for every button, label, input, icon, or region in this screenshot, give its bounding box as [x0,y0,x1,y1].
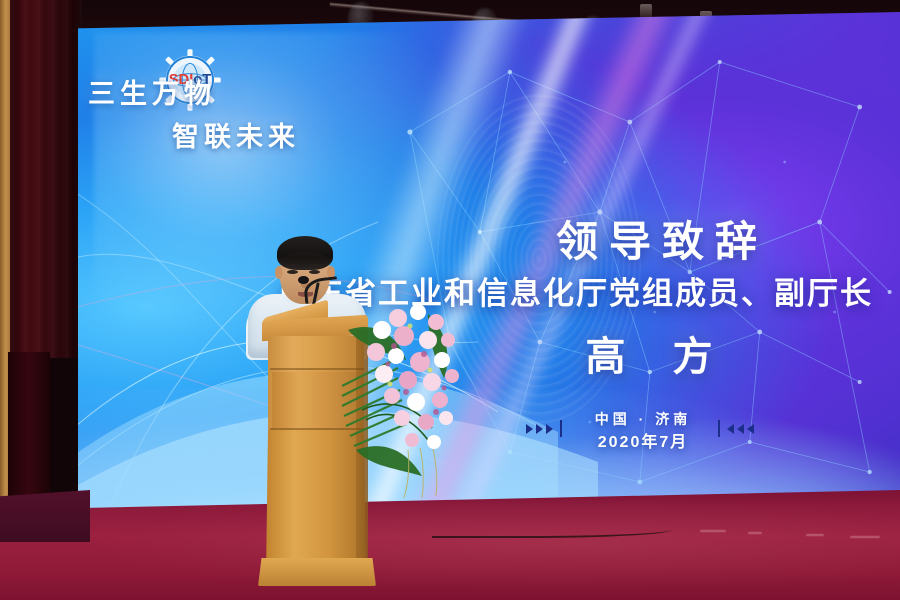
stage-curtain-left [10,0,82,358]
arrows-right-decor [526,420,566,437]
triangle-right-icon [546,424,553,434]
triangle-left-icon [747,424,754,434]
slogan-line-1: 三生万物 [88,79,216,109]
triangle-left-icon [737,424,744,434]
stage-floor-left-shadow [0,490,90,542]
triangle-right-icon [536,424,543,434]
floor-marking [700,530,726,532]
triangle-right-icon [526,424,533,434]
vertical-bar-decor [718,420,720,437]
floor-marking [806,534,824,536]
microphone-capsule [298,276,309,284]
floor-marking [850,536,880,538]
led-screen-backdrop: SDIoT 三生万物 智联未来 领导致辞 山东省工业和信息化厅党组成员、副厅长 … [78,12,900,522]
blossoms-graphic [336,300,466,500]
eye-right [309,270,320,274]
event-slogan: 三生万物 智联未来 [88,74,348,157]
arrows-left-decor [714,420,754,437]
lectern-base [258,558,376,586]
triangle-left-icon [727,424,734,434]
slogan-line-2: 智联未来 [172,117,348,158]
screen-speaker-name: 高 方 [488,324,828,382]
stage-photo-scene: SDIoT 三生万物 智联未来 领导致辞 山东省工业和信息化厅党组成员、副厅长 … [0,0,900,600]
floor-marking [748,532,762,534]
vertical-bar-decor [560,420,562,437]
floral-arrangement [336,300,466,500]
eye-left [287,270,298,274]
screen-headline: 领导致辞 [452,208,872,269]
ear-left [275,266,283,279]
